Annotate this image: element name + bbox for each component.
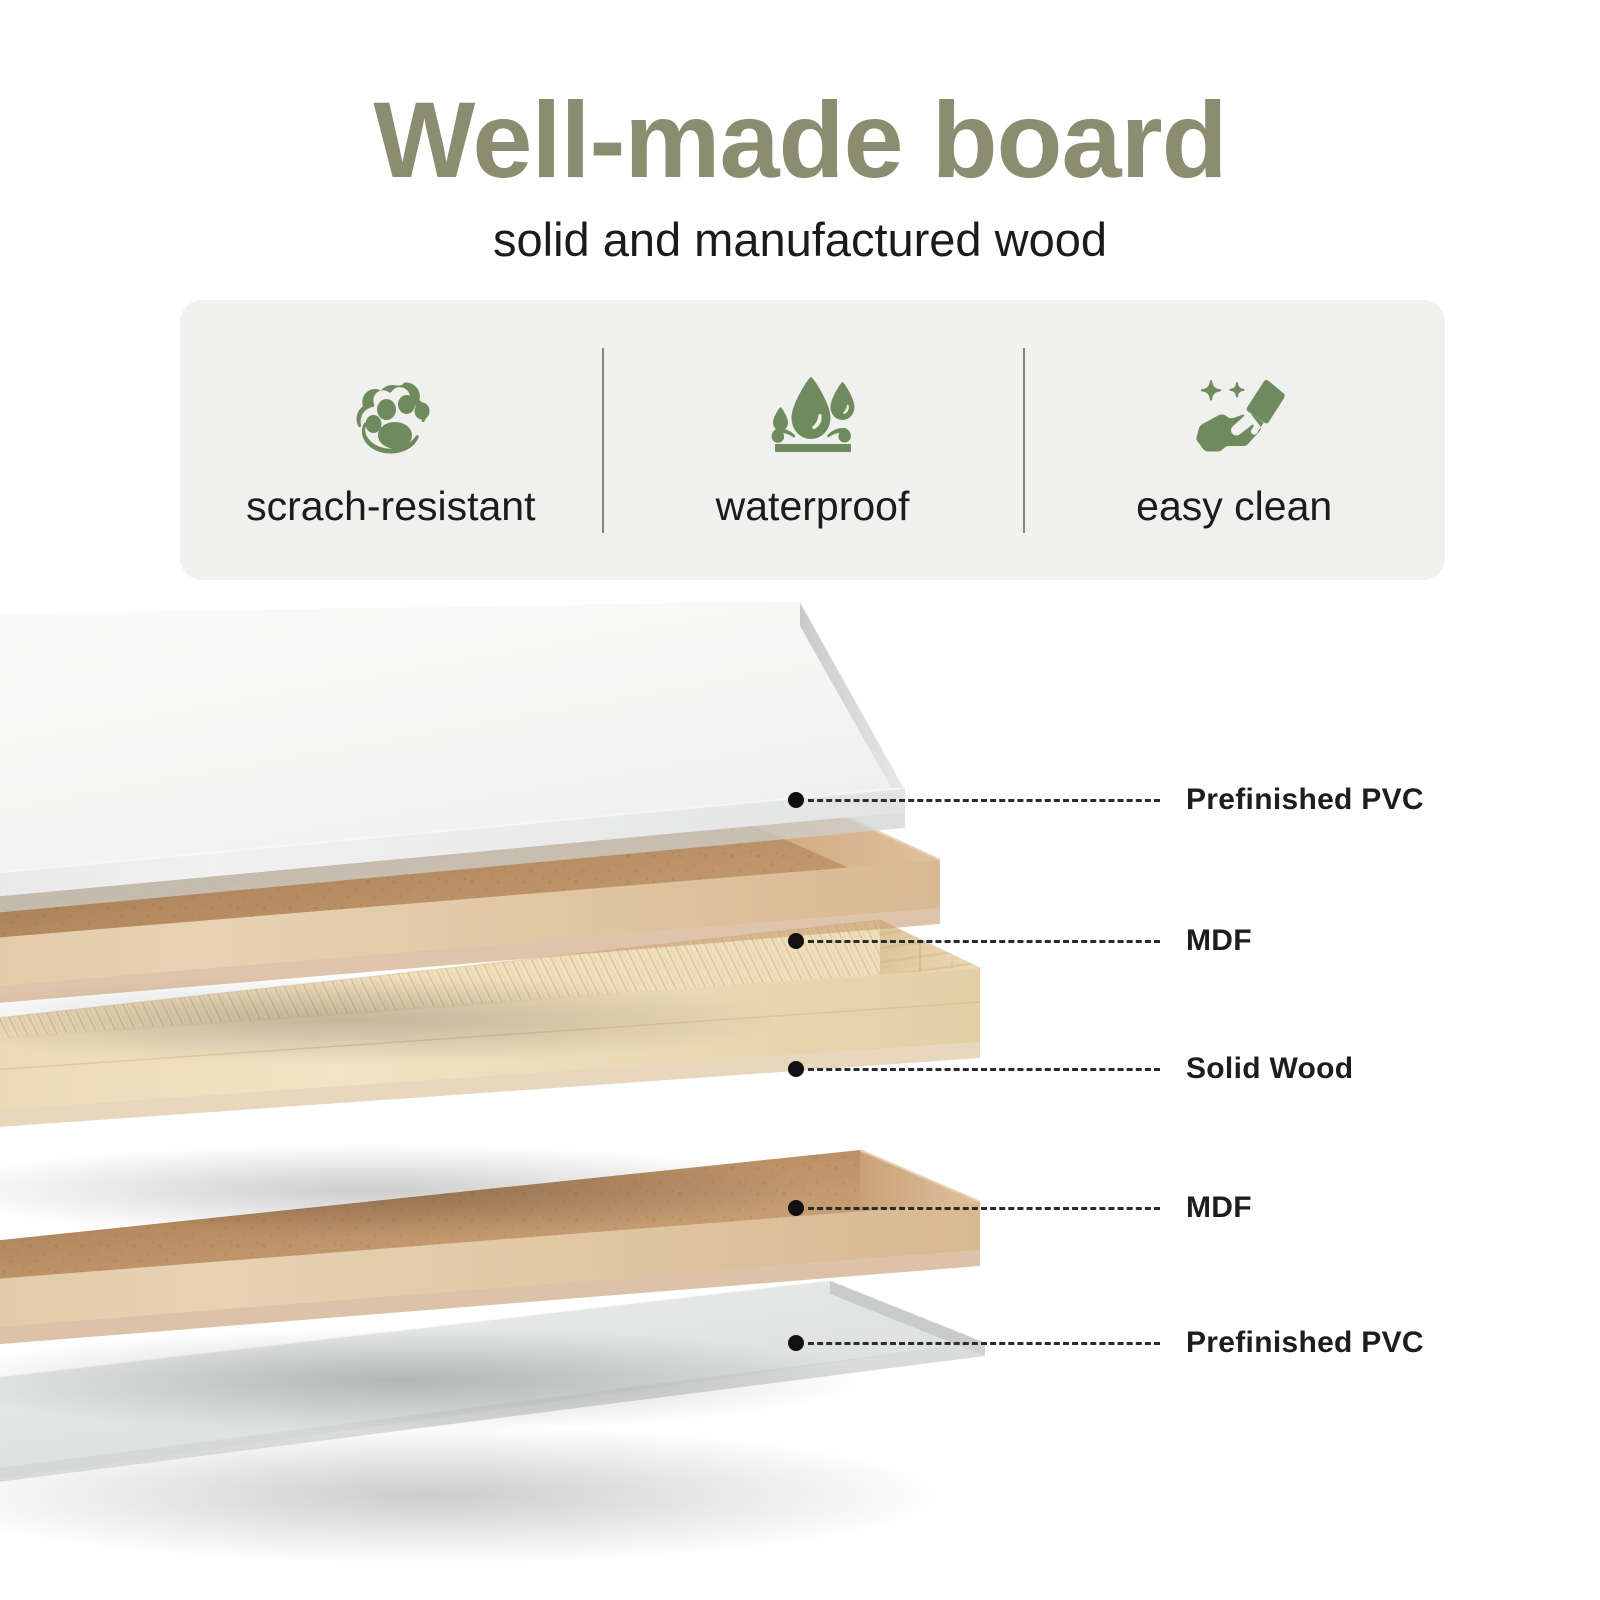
callout-leader-line xyxy=(808,940,1160,943)
paw-print-icon xyxy=(332,354,450,472)
feature-label: easy clean xyxy=(1136,486,1332,527)
page-subtitle: solid and manufactured wood xyxy=(0,216,1600,263)
board-stack-illustration xyxy=(0,590,1600,1600)
callout-label: Prefinished PVC xyxy=(1186,1326,1424,1360)
callout-prefinished-pvc-bottom: Prefinished PVC xyxy=(788,1326,1424,1360)
feature-waterproof[interactable]: waterproof xyxy=(602,300,1024,580)
callout-leader-line xyxy=(808,1207,1160,1210)
callout-leader-line xyxy=(808,1068,1160,1071)
callout-mdf-upper: MDF xyxy=(788,924,1252,958)
header: Well-made board solid and manufactured w… xyxy=(0,0,1600,263)
callout-solid-wood: Solid Wood xyxy=(788,1052,1353,1086)
feature-easy-clean[interactable]: easy clean xyxy=(1023,300,1445,580)
feature-label: scrach-resistant xyxy=(246,486,535,527)
callout-marker-dot xyxy=(788,792,804,808)
callout-label: MDF xyxy=(1186,1191,1252,1225)
callout-marker-dot xyxy=(788,1335,804,1351)
feature-label: waterproof xyxy=(716,486,910,527)
callout-marker-dot xyxy=(788,1200,804,1216)
callout-mdf-lower: MDF xyxy=(788,1191,1252,1225)
callout-label: Solid Wood xyxy=(1186,1052,1353,1086)
feature-card: scrach-resistant waterproof xyxy=(180,300,1445,580)
hand-wipe-sparkle-icon xyxy=(1175,354,1293,472)
callout-marker-dot xyxy=(788,1061,804,1077)
callout-leader-line xyxy=(808,1342,1160,1345)
callout-label: Prefinished PVC xyxy=(1186,783,1424,817)
callout-prefinished-pvc-top: Prefinished PVC xyxy=(788,783,1424,817)
water-droplet-icon xyxy=(754,354,872,472)
callout-leader-line xyxy=(808,799,1160,802)
feature-scratch-resistant[interactable]: scrach-resistant xyxy=(180,300,602,580)
page-title: Well-made board xyxy=(0,86,1600,194)
layered-board-diagram: Prefinished PVC MDF Solid Wood MDF Prefi… xyxy=(0,590,1600,1600)
callout-marker-dot xyxy=(788,933,804,949)
callout-label: MDF xyxy=(1186,924,1252,958)
